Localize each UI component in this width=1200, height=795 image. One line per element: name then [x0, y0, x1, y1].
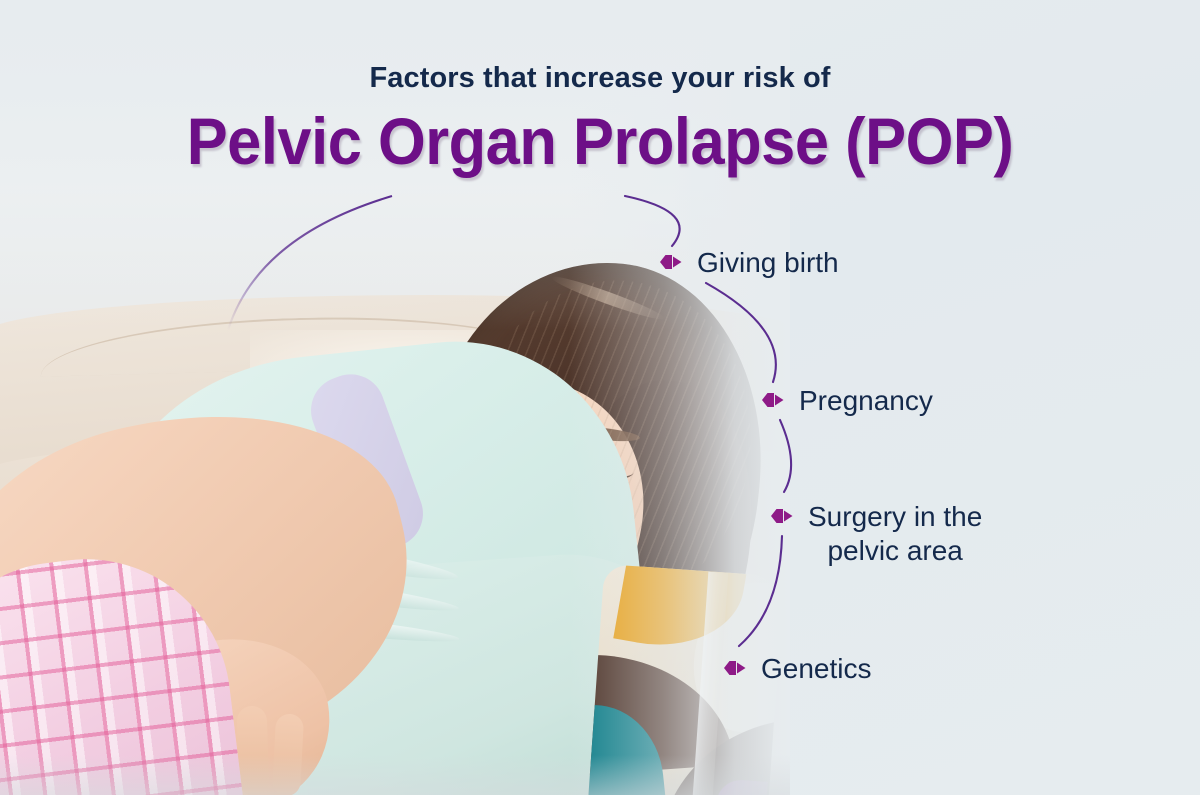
callout-surgery-pelvic-area[interactable]: Surgery in the pelvic area [770, 500, 982, 568]
callout-label: Giving birth [697, 246, 839, 280]
callout-pregnancy[interactable]: Pregnancy [761, 384, 933, 418]
callout-label: Pregnancy [799, 384, 933, 418]
arrow-bullet-icon [659, 253, 683, 271]
arrow-bullet-icon [761, 391, 785, 409]
callout-label: Surgery in the pelvic area [808, 500, 982, 568]
callout-list: Giving birth Pregnancy Surgery in the pe… [0, 0, 1200, 795]
callout-genetics[interactable]: Genetics [723, 652, 872, 686]
callout-giving-birth[interactable]: Giving birth [659, 246, 839, 280]
callout-label: Genetics [761, 652, 872, 686]
arrow-bullet-icon [723, 659, 747, 677]
arrow-bullet-icon [770, 507, 794, 525]
infographic-poster: Factors that increase your risk of Pelvi… [0, 0, 1200, 795]
